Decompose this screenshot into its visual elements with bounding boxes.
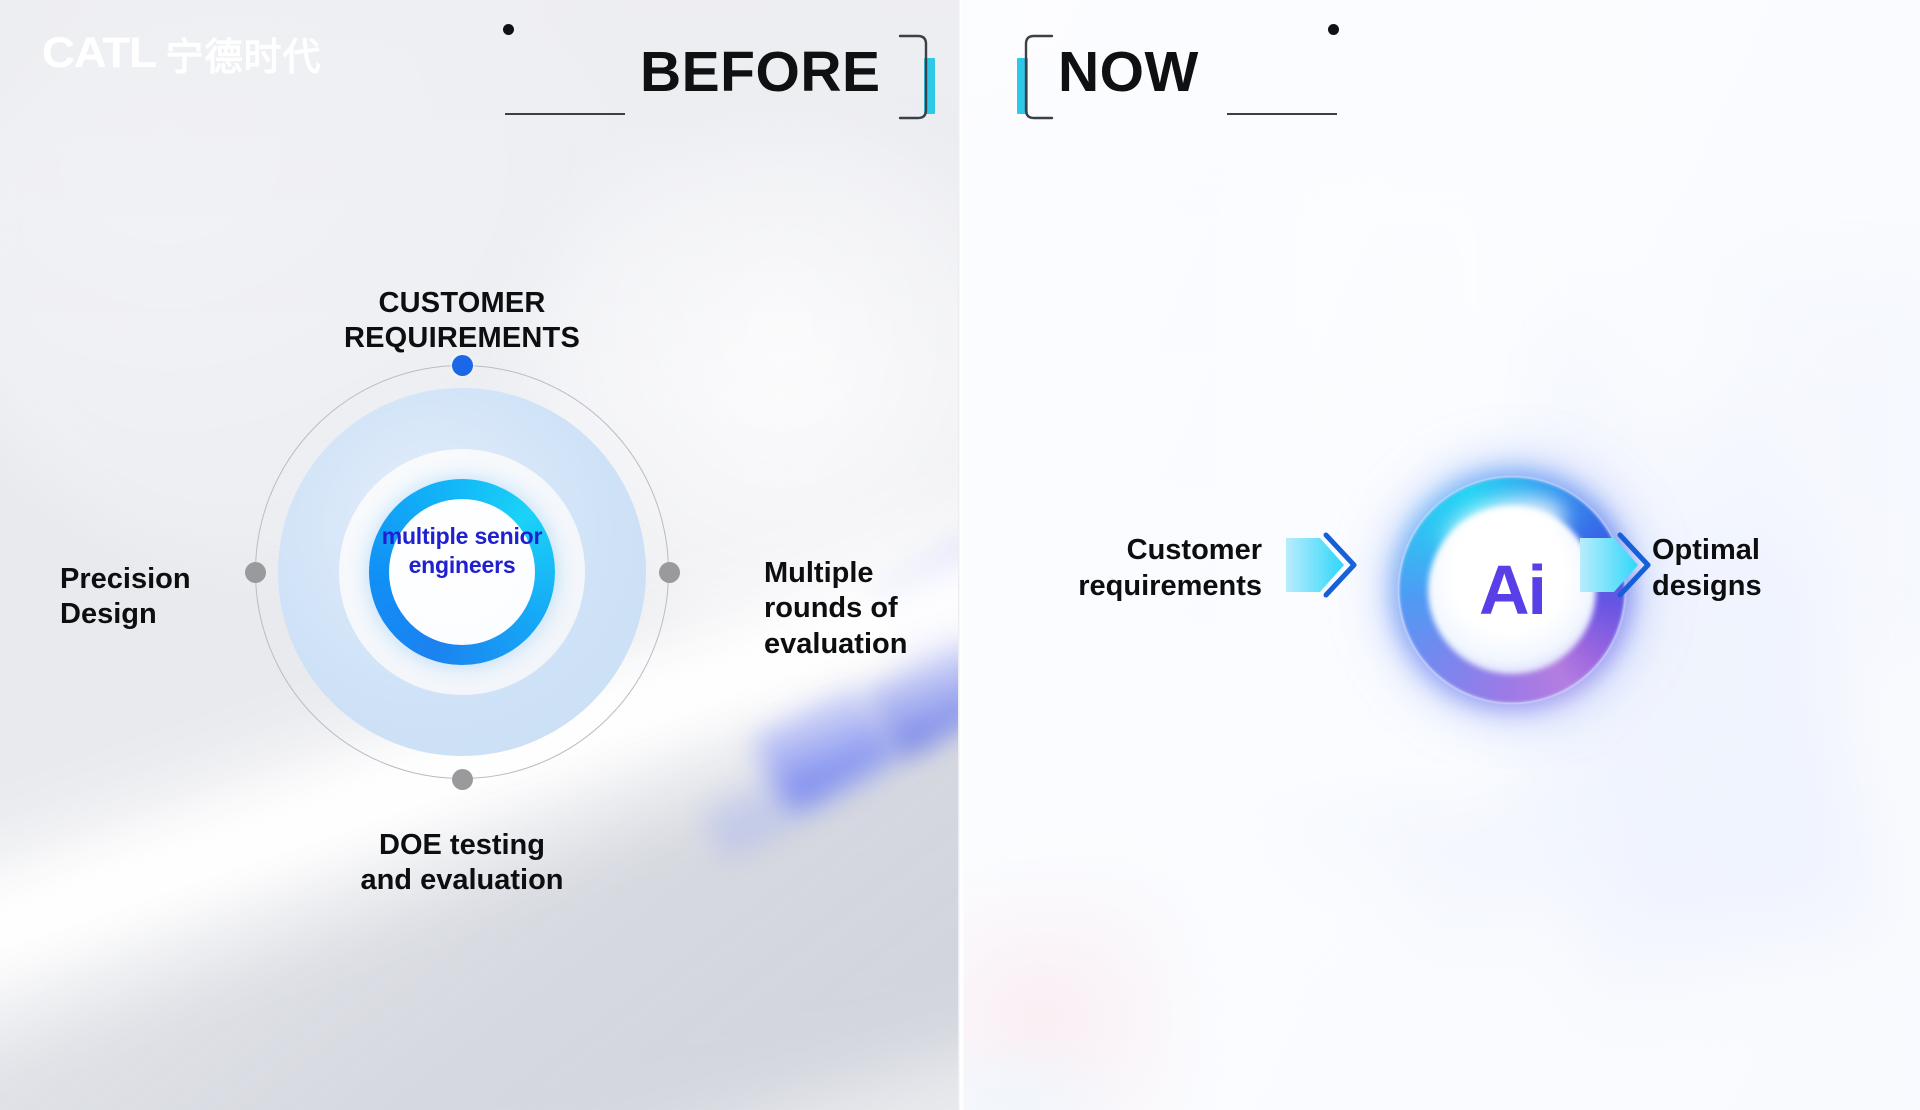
panel-before: multiple senior engineers CUSTOMER REQUI… <box>0 0 962 1110</box>
slide-canvas: multiple senior engineers CUSTOMER REQUI… <box>0 0 1920 1110</box>
badge-now-label: NOW <box>1058 44 1199 101</box>
catl-logo-chinese: 宁德时代 <box>165 26 321 81</box>
before-cycle-diagram: multiple senior engineers <box>202 312 722 832</box>
badge-before-tail-line <box>505 113 625 115</box>
chevron-right-icon-output <box>1574 524 1656 606</box>
node-dot-customer-requirements[interactable] <box>452 355 473 376</box>
label-doe-testing-and-evaluation: DOE testing and evaluation <box>172 828 752 899</box>
badge-now-tail-dot <box>1328 24 1339 35</box>
bracket-close-icon <box>896 34 930 120</box>
catl-logo-latin: CATL <box>42 29 156 78</box>
now-flow-diagram: Customer requirements <box>962 0 1920 1110</box>
label-optimal-designs-output: Optimal designs <box>1652 532 1912 605</box>
label-customer-requirements: CUSTOMER REQUIREMENTS <box>202 286 722 357</box>
badge-now-tail-line <box>1227 113 1337 115</box>
diagram-core-label: multiple senior engineers <box>377 522 547 580</box>
catl-logo: CATL 宁德时代 <box>42 26 321 81</box>
node-dot-multiple-rounds[interactable] <box>659 562 680 583</box>
badge-now: NOW <box>1022 28 1252 124</box>
label-precision-design: Precision Design <box>60 562 250 633</box>
badge-before-tail-dot <box>503 24 514 35</box>
badge-before: BEFORE <box>600 28 930 124</box>
bracket-open-icon <box>1022 34 1056 120</box>
panel-now: Customer requirements <box>962 0 1920 1110</box>
label-customer-requirements-input: Customer requirements <box>1002 532 1262 605</box>
label-multiple-rounds-of-evaluation: Multiple rounds of evaluation <box>764 556 962 662</box>
badge-before-label: BEFORE <box>640 44 881 101</box>
node-dot-doe-testing[interactable] <box>452 769 473 790</box>
